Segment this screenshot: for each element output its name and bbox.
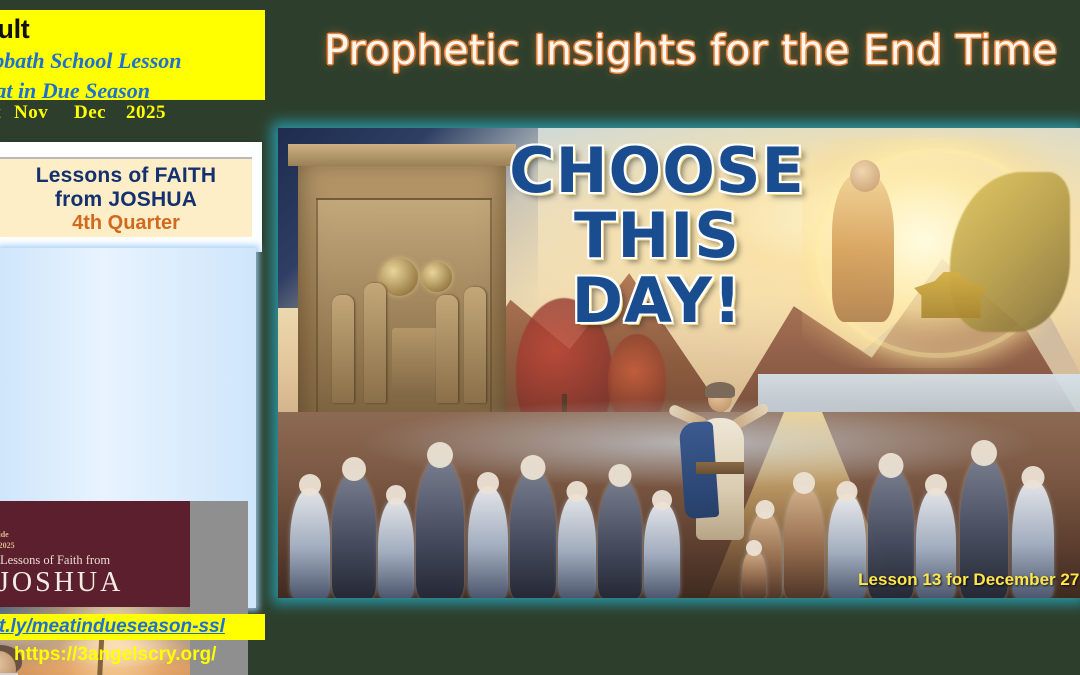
crowd-figure (378, 498, 414, 598)
relief-sun-disc-2 (422, 262, 452, 292)
crowd-head (971, 440, 997, 466)
book-cover-meta: Adult Sabbath School Bible Study Guide O… (0, 509, 136, 551)
angel-head (850, 160, 880, 192)
site-link-bar[interactable]: https://3angelscry.org/ (0, 642, 265, 670)
relief-figure-4 (464, 287, 486, 403)
book-meta-line1: Adult (0, 509, 136, 520)
book-meta-line2: Sabbath School (0, 520, 136, 531)
relief-figure-1 (332, 295, 354, 403)
sidebar-date-row: Oct Nov Dec 2025 (0, 102, 265, 128)
date-dec: Dec (74, 102, 106, 124)
main-illustration[interactable]: CHOOSE THIS DAY! Lesson 13 for December … (278, 128, 1080, 598)
crowd-head (299, 474, 321, 496)
relief-figure-2 (364, 283, 386, 403)
book-cover-title: JOSHUA (0, 567, 188, 599)
crowd-head (793, 472, 815, 494)
bitly-link-bar[interactable]: bit.ly/meatindueseason-ssl (0, 614, 265, 640)
book-meta-line3: Bible Study Guide (0, 530, 136, 541)
crowd-figure (332, 472, 376, 598)
crowd-head (477, 472, 499, 494)
book-cover-subtitle: Lessons of Faith from (0, 553, 185, 568)
sidebar-meat-in-due-season-label: Meat in Due Season (0, 78, 265, 100)
crowd-head (746, 540, 762, 556)
crowd-head (837, 481, 858, 502)
headline-line2: THIS (492, 207, 822, 266)
lesson-title-box: Lessons of FAITH from JOSHUA 4th Quarter (0, 157, 252, 237)
crowd-figure (558, 494, 596, 598)
lesson-title-line1: Lessons of FAITH (0, 164, 252, 188)
book-meta-line4: Oct | Nov | Dec 2025 (0, 541, 136, 552)
bitly-link[interactable]: bit.ly/meatindueseason-ssl (0, 616, 225, 638)
preacher-hair (705, 382, 735, 398)
slide-root: Adult Sabbath School Lesson Meat in Due … (0, 0, 1080, 675)
relief-figure-3 (436, 295, 458, 403)
scene: CHOOSE THIS DAY! Lesson 13 for December … (278, 128, 1080, 598)
lesson-title-line2: from JOSHUA (0, 188, 252, 212)
crowd-head (1022, 466, 1045, 489)
crowd-figure (416, 458, 464, 598)
headline-line1: CHOOSE (492, 142, 822, 201)
sidebar-yellow-header: Adult Sabbath School Lesson Meat in Due … (0, 10, 265, 100)
date-oct: Oct (0, 102, 1, 124)
crowd-head (567, 481, 588, 502)
angel-figure (832, 174, 894, 322)
crowd-head (386, 485, 406, 505)
crowd-head (879, 453, 904, 478)
sidebar-adult-label: Adult (0, 14, 262, 45)
book-cover-frame: Adult Sabbath School Bible Study Guide O… (0, 248, 256, 608)
site-link[interactable]: https://3angelscry.org/ (14, 644, 216, 666)
crowd-child-figure (742, 550, 766, 598)
preacher-figure (674, 380, 770, 540)
crowd-figure (784, 486, 824, 598)
headline-line3: DAY! (492, 272, 822, 331)
lesson-quarter-label: 4th Quarter (0, 212, 252, 235)
lesson-caption: Lesson 13 for December 27, (858, 570, 1080, 590)
date-nov: Nov (14, 102, 48, 124)
crowd-head (427, 442, 453, 468)
page-title: Prophetic Insights for the End Time (296, 26, 1080, 88)
date-year: 2025 (126, 102, 166, 124)
sidebar-sabbath-school-lesson-label: Sabbath School Lesson (0, 48, 265, 74)
crowd-head (609, 464, 632, 487)
headline-overlay: CHOOSE THIS DAY! (492, 142, 822, 331)
relief-panel (316, 198, 492, 417)
crowd-figure (510, 470, 556, 598)
relief-cornice (288, 144, 516, 166)
sidebar: Adult Sabbath School Lesson Meat in Due … (0, 0, 268, 675)
crowd-figure (290, 488, 330, 598)
crowd-figure (598, 478, 642, 598)
crowd-head (652, 490, 672, 510)
crowd-head (342, 457, 366, 481)
crowd-head (521, 455, 546, 480)
preacher-sash (696, 462, 744, 474)
crowd-head (925, 474, 947, 496)
crowd-figure (468, 486, 508, 598)
